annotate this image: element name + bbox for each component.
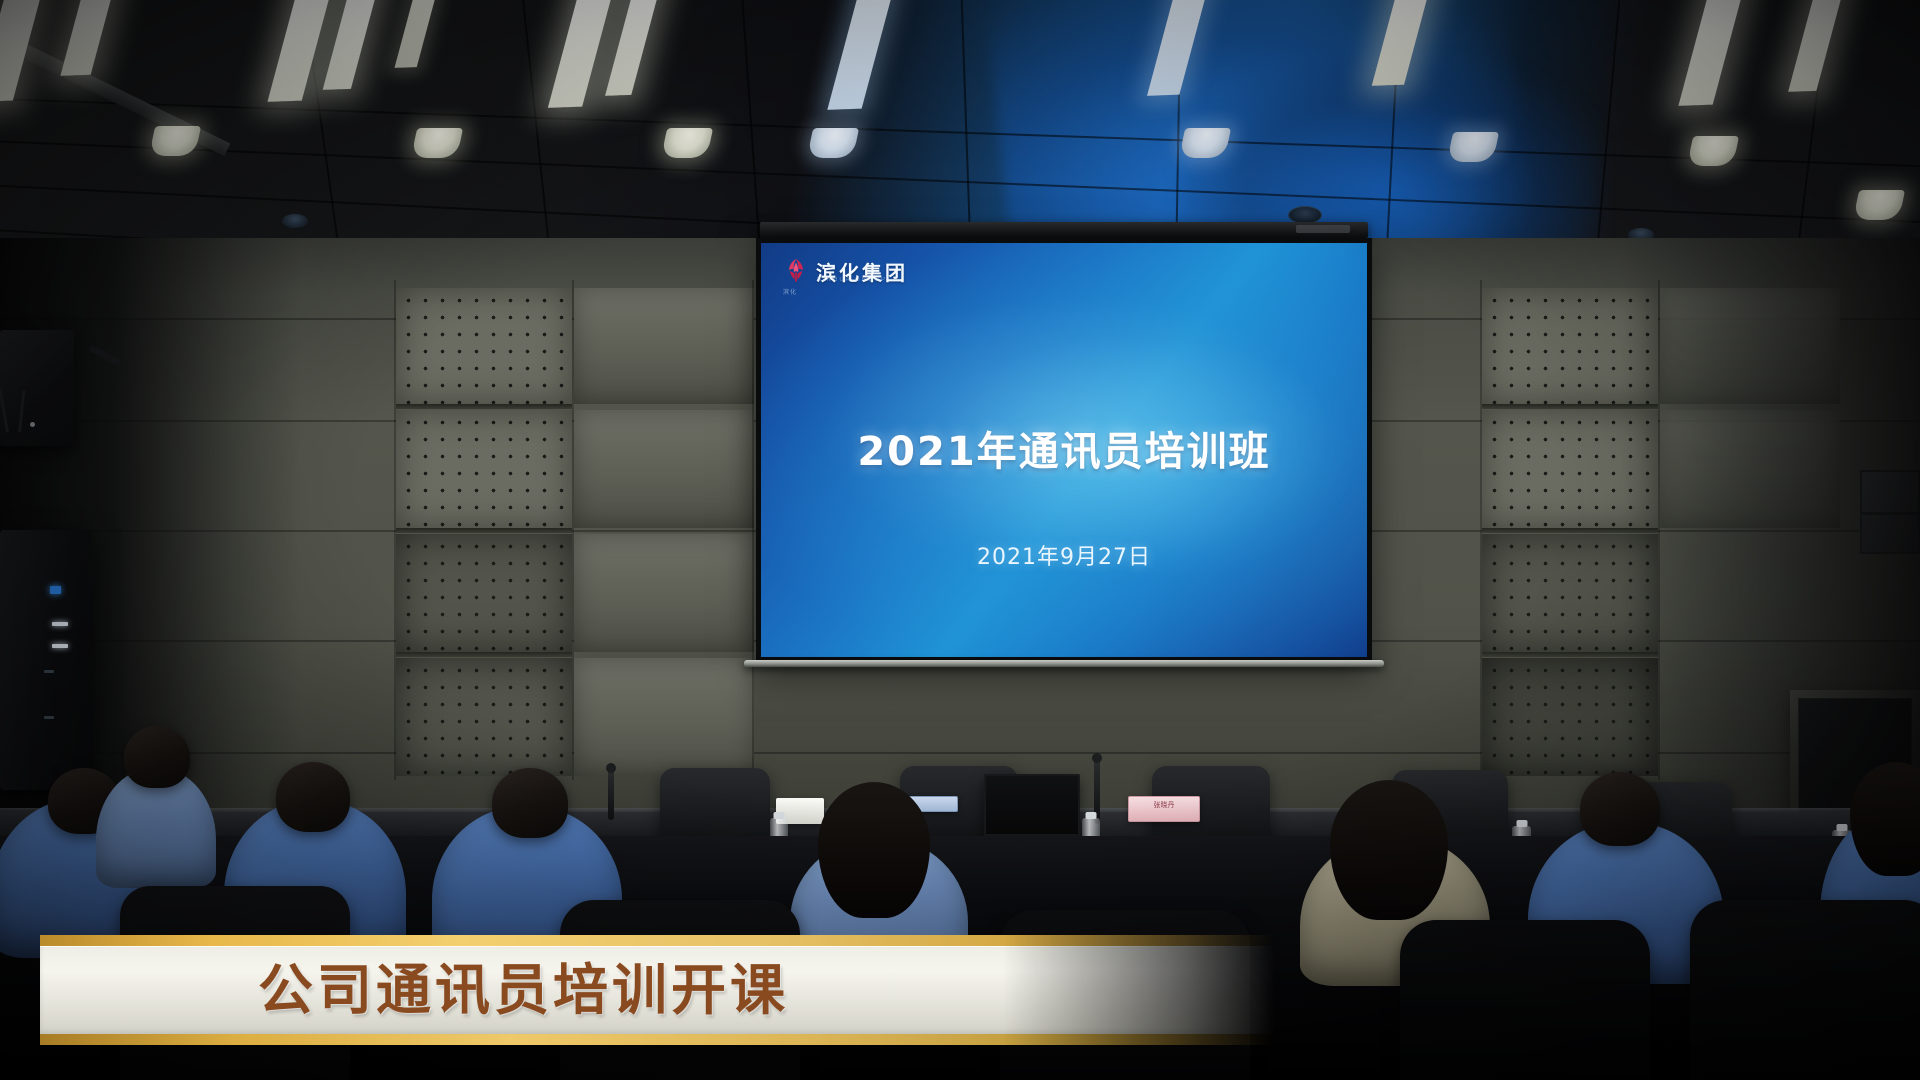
- wall-seam: [1480, 280, 1482, 780]
- name-card: 张晓丹: [1128, 796, 1200, 822]
- name-card-text: 张晓丹: [1129, 797, 1199, 813]
- wall-seam: [752, 280, 754, 780]
- foreground-chair[interactable]: [1690, 900, 1920, 1080]
- slide-brand-submark: 滨化: [783, 287, 797, 296]
- wall-plate: [574, 288, 754, 404]
- wall-plate: [574, 534, 754, 652]
- slide-brand-name-en: BINHUA GROUP: [817, 277, 887, 283]
- ceiling: [0, 0, 1920, 252]
- slide-title: 2021年通讯员培训班: [761, 419, 1367, 477]
- screen-roller-tab: [1296, 225, 1350, 233]
- wall-speaker: [0, 330, 74, 446]
- acoustic-panel: [396, 288, 572, 404]
- wall-plate: [574, 658, 754, 776]
- projector-screen-housing: [760, 222, 1368, 238]
- banner-gold-top-edge: [40, 935, 1275, 946]
- equipment-rack[interactable]: [0, 530, 92, 790]
- ceiling-sensor-icon: [282, 214, 308, 228]
- desk-monitor: [984, 774, 1080, 836]
- banner-headline: 公司通讯员培训开课: [258, 963, 789, 1018]
- acoustic-panel: [396, 410, 572, 528]
- foreground-chair[interactable]: [1400, 920, 1650, 1080]
- panel-divider: [396, 528, 572, 533]
- projection-screen-weight-bar: [744, 660, 1384, 667]
- banner-body: 公司通讯员培训开课: [40, 946, 1275, 1034]
- acoustic-panel: [396, 534, 572, 652]
- screenshot-root: 滨化集团 BINHUA GROUP 滨化 2021年通讯员培训班 2021年9月…: [0, 0, 1920, 1080]
- binhua-tulip-logo-icon: [783, 258, 809, 286]
- wall-seam: [394, 280, 396, 780]
- desk-microphone: [608, 768, 614, 820]
- conference-chair[interactable]: [660, 768, 770, 846]
- wall-seam: [572, 280, 574, 780]
- lower-third-banner: 公司通讯员培训开课: [40, 935, 1275, 1045]
- wall-plate: [574, 410, 754, 528]
- slide-date: 2021年9月27日: [761, 539, 1367, 571]
- projection-screen: 滨化集团 BINHUA GROUP 滨化 2021年通讯员培训班 2021年9月…: [761, 243, 1367, 657]
- panel-divider: [396, 652, 572, 657]
- acoustic-panel: [396, 658, 572, 776]
- panel-divider: [396, 404, 572, 409]
- projection-screen-frame: 滨化集团 BINHUA GROUP 滨化 2021年通讯员培训班 2021年9月…: [756, 238, 1372, 662]
- banner-gold-bottom-edge: [40, 1034, 1275, 1045]
